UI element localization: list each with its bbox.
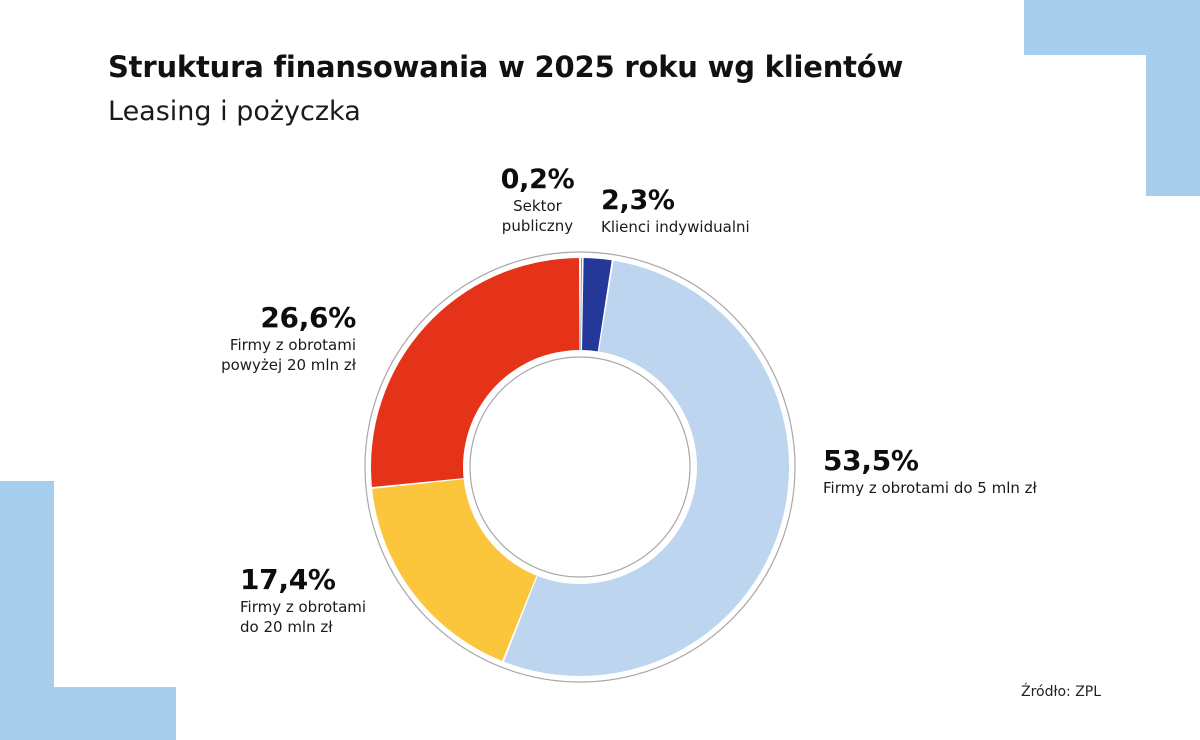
donut-chart — [350, 237, 810, 697]
callout-label-klienci-indywidualni: Klienci indywidualni — [601, 218, 773, 238]
callout-value-firmy-do-20-mln: 17,4% — [240, 565, 405, 595]
chart-canvas: Struktura finansowania w 2025 roku wg kl… — [0, 0, 1200, 740]
callout-firmy-do-20-mln: 17,4% Firmy z obrotami do 20 mln zł — [240, 565, 405, 638]
callout-label-sektor-publiczny: Sektor publiczny — [490, 197, 585, 237]
callout-firmy-do-5-mln: 53,5% Firmy z obrotami do 5 mln zł — [823, 446, 1073, 499]
callout-firmy-powyzej-20-mln: 26,6% Firmy z obrotami powyżej 20 mln zł — [178, 303, 356, 376]
callout-value-firmy-do-5-mln: 53,5% — [823, 446, 1073, 476]
callout-value-firmy-powyzej-20-mln: 26,6% — [178, 303, 356, 333]
callout-label-firmy-powyzej-20-mln: Firmy z obrotami powyżej 20 mln zł — [178, 336, 356, 376]
callout-label-firmy-do-20-mln: Firmy z obrotami do 20 mln zł — [240, 598, 405, 638]
source-note: Źródło: ZPL — [1021, 684, 1101, 700]
donut-slice[interactable] — [581, 258, 582, 350]
donut-inner-guide-circle — [470, 357, 690, 577]
callout-klienci-indywidualni: 2,3% Klienci indywidualni — [601, 186, 773, 238]
callout-value-klienci-indywidualni: 2,3% — [601, 186, 773, 215]
callout-value-sektor-publiczny: 0,2% — [490, 165, 585, 194]
decoration-bottom-left-horizontal — [0, 687, 176, 740]
donut-slice[interactable] — [371, 258, 579, 487]
decoration-top-right-vertical — [1146, 0, 1200, 196]
donut-chart-svg — [350, 237, 810, 697]
callout-label-firmy-do-5-mln: Firmy z obrotami do 5 mln zł — [823, 479, 1073, 499]
page-title: Struktura finansowania w 2025 roku wg kl… — [108, 50, 903, 84]
callout-sektor-publiczny: 0,2% Sektor publiczny — [490, 165, 585, 237]
page-subtitle: Leasing i pożyczka — [108, 96, 361, 127]
